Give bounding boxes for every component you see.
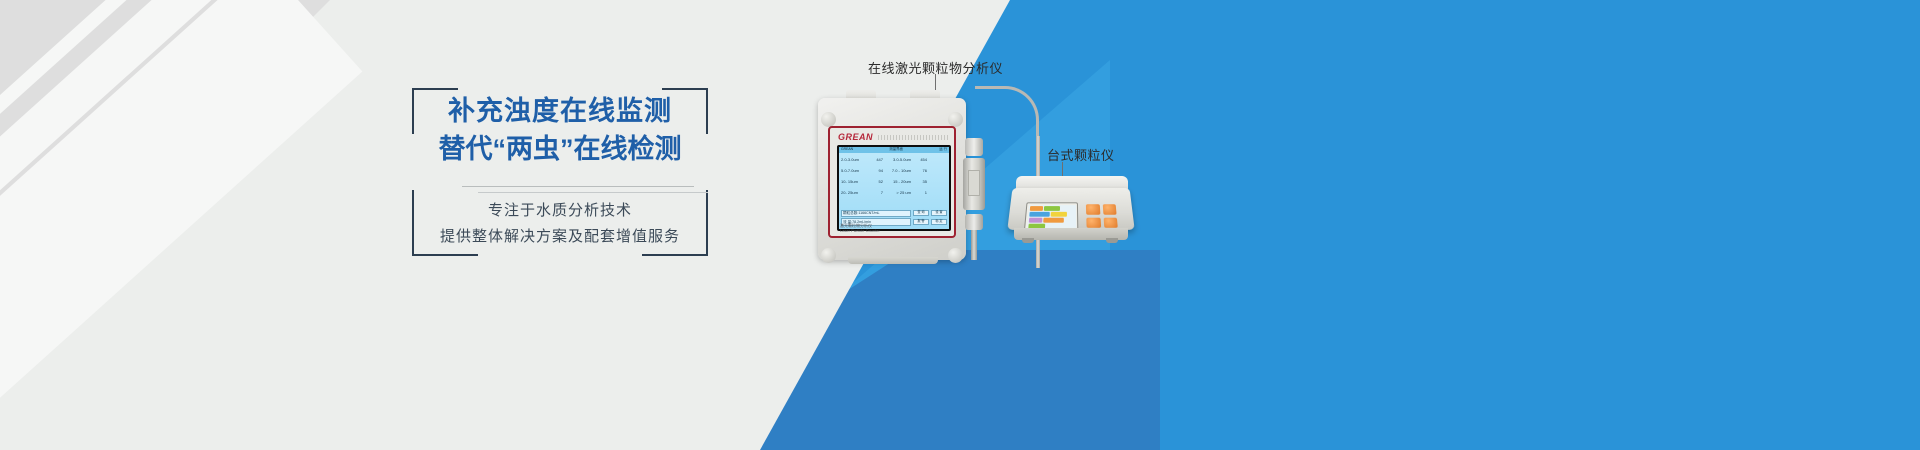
count-a: 94 xyxy=(867,169,883,174)
display-header-left: GREAN xyxy=(841,148,853,152)
desktop-display[interactable] xyxy=(1027,205,1076,228)
display-header-right: 运 行 xyxy=(939,148,947,152)
keypad-button[interactable] xyxy=(1103,217,1118,228)
desktop-keypad[interactable] xyxy=(1086,204,1118,228)
display-chip xyxy=(1043,206,1059,211)
total-count-field: 颗粒总数:1166CNT/mL xyxy=(841,210,911,217)
headline-title-group: 补充浊度在线监测 替代“两虫”在线检测 xyxy=(412,92,708,168)
subtitle-line-2: 提供整体解决方案及配套增值服务 xyxy=(412,224,708,250)
display-chip xyxy=(1029,206,1042,211)
display-measurement-rows: 2.0-3.0um 447 3.0-5.0um 454 5.0-7.0um 94… xyxy=(839,153,949,209)
analyzer-model-en: Laser Particle Counter xyxy=(840,228,880,233)
measurement-row: 20- 25um 7 > 25 um 1 xyxy=(841,188,947,199)
sensor-drain-stem xyxy=(971,230,977,260)
range-b: > 25 um xyxy=(883,191,911,196)
count-b: 76 xyxy=(911,169,927,174)
range-b: 15 - 20um xyxy=(883,180,911,185)
display-chip xyxy=(1050,211,1066,216)
headline-line-2: 替代“两虫”在线检测 xyxy=(412,130,708,168)
headline-block: 补充浊度在线监测 替代“两虫”在线检测 专注于水质分析技术 提供整体解决方案及配… xyxy=(412,88,708,256)
sensor-bottom-fitting xyxy=(965,214,983,230)
range-b: 3.0-5.0um xyxy=(883,158,911,163)
desktop-particle-counter xyxy=(1010,176,1132,246)
analyzer-enclosure: GREAN GREAN 测量界面 运 行 2.0-3.0um 447 xyxy=(818,98,966,260)
display-header-center: 测量界面 xyxy=(889,148,903,152)
range-a: 20- 25um xyxy=(841,191,867,196)
online-laser-particle-analyzer: GREAN GREAN 测量界面 运 行 2.0-3.0um 447 xyxy=(818,88,966,260)
keypad-button[interactable] xyxy=(1086,204,1100,214)
display-chip xyxy=(1043,217,1064,222)
headline-divider-upper xyxy=(462,186,694,187)
count-b: 35 xyxy=(911,180,927,185)
range-a: 2.0-3.0um xyxy=(841,158,867,163)
keypad-button[interactable] xyxy=(1102,204,1116,214)
headline-line-1: 补充浊度在线监测 xyxy=(412,92,708,130)
display-chip xyxy=(1028,217,1042,222)
analyzer-brand-logo: GREAN xyxy=(838,132,873,142)
analyzer-bottom-ports xyxy=(848,257,938,264)
sensor-body xyxy=(963,158,985,210)
analyzer-model-text: 激光颗粒物分析仪 Laser Particle Counter xyxy=(840,223,880,233)
analyzer-latch-knob-tr xyxy=(948,112,963,127)
count-b: 1 xyxy=(911,191,927,196)
analyzer-vent-hatch xyxy=(878,135,948,140)
desktop-control-panel xyxy=(1007,188,1134,230)
analyzer-latch-knob-br xyxy=(948,248,963,263)
desktop-foot-left xyxy=(1022,238,1034,243)
desktop-display-bezel xyxy=(1024,202,1078,229)
alarm-button[interactable]: 报 警 xyxy=(913,219,929,225)
range-a: 5.0-7.0um xyxy=(841,169,867,174)
measurement-row: 10- 15um 52 15 - 20um 35 xyxy=(841,177,947,188)
count-a: 52 xyxy=(867,180,883,185)
sensor-top-fitting xyxy=(965,138,983,156)
count-b: 454 xyxy=(911,158,927,163)
analyzer-display-bezel: GREAN 测量界面 运 行 2.0-3.0um 447 3.0-5.0um 4… xyxy=(837,145,951,231)
analyzer-display[interactable]: GREAN 测量界面 运 行 2.0-3.0um 447 3.0-5.0um 4… xyxy=(839,147,949,229)
analyzer-front-panel: GREAN GREAN 测量界面 运 行 2.0-3.0um 447 xyxy=(828,126,956,238)
headline-divider-lower xyxy=(478,192,708,193)
count-a: 7 xyxy=(867,191,883,196)
desktop-foot-right xyxy=(1106,238,1118,243)
measurement-row: 2.0-3.0um 447 3.0-5.0um 454 xyxy=(841,155,947,166)
display-chip xyxy=(1029,211,1050,216)
promo-banner: 补充浊度在线监测 替代“两虫”在线检测 专注于水质分析技术 提供整体解决方案及配… xyxy=(0,0,1920,450)
count-a: 447 xyxy=(867,158,883,163)
measurement-row: 5.0-7.0um 94 7.0 - 10um 76 xyxy=(841,166,947,177)
range-b: 7.0 - 10um xyxy=(883,169,911,174)
query-button[interactable]: 查 询 xyxy=(913,210,929,216)
subtitle-line-1: 专注于水质分析技术 xyxy=(412,198,708,224)
inline-sample-sensor xyxy=(963,138,985,258)
analyzer-latch-knob-bl xyxy=(821,248,836,263)
keypad-button[interactable] xyxy=(1086,217,1100,228)
display-footer-row: 颗粒总数:1166CNT/mL 查 询 设 置 xyxy=(841,210,947,217)
callout-label-desktop: 台式颗粒仪 xyxy=(1047,145,1115,164)
analyzer-latch-knob-tl xyxy=(821,112,836,127)
settings-button[interactable]: 设 置 xyxy=(931,210,947,216)
range-a: 10- 15um xyxy=(841,180,867,185)
sensor-nameplate xyxy=(968,170,980,196)
calibrate-button[interactable]: 标 定 xyxy=(931,219,947,225)
headline-subtitle-group: 专注于水质分析技术 提供整体解决方案及配套增值服务 xyxy=(412,198,708,250)
